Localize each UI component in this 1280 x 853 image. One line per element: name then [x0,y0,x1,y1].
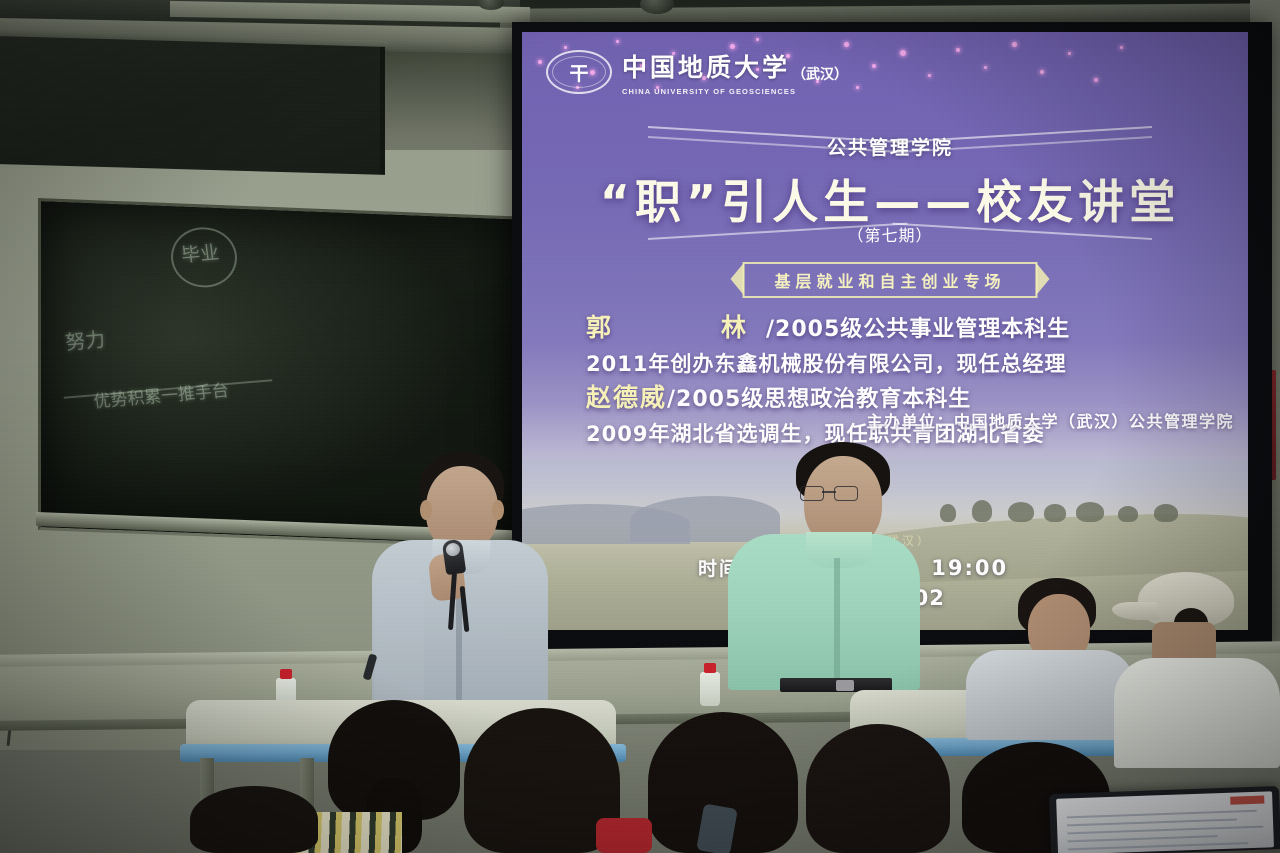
university-seal-icon: 干 [546,50,612,94]
slide-host-line: 主办单位：中国地质大学（武汉）公共管理学院 [866,408,1234,432]
speaker-1-credential: /2005级公共事业管理本科生 [766,317,1070,342]
speaker-1-name: 郭 林 [586,313,766,342]
college-name: 公共管理学院 [520,133,1260,160]
university-campus: （武汉） [792,64,848,84]
tree-6 [1118,506,1138,522]
standing-speaker-arm-right [374,580,424,704]
chalk-underline [64,379,273,399]
speaker-2-name: 赵德威 [586,383,667,412]
tree-1 [940,504,956,522]
tree-5 [1076,502,1104,522]
front-left-hair [190,786,318,853]
front-4-hair [806,724,950,853]
seal-char: 干 [569,59,588,86]
university-name-block: 中国地质大学 （武汉） CHINA UNIVERSITY OF GEOSCIEN… [622,48,848,96]
laptop-screen [1056,791,1274,853]
seated-speaker-glasses [800,486,858,500]
chalk-text-left: 努力 [63,323,106,355]
slide-issue: （第七期） [520,222,1260,246]
water-bottle-right[interactable] [700,672,720,706]
seated-speaker-buckle [836,680,854,691]
seated-speaker-placket [834,558,840,686]
screenshot-root: 毕业 努力 优势积累一推手台 [0,0,1280,853]
capped-student-torso [1114,658,1280,768]
tree-7 [1154,504,1178,522]
audience-back-right-torso [966,650,1134,740]
standing-speaker-ear-left [420,500,432,520]
tree-4 [1044,504,1066,522]
standing-speaker-ear-right [492,500,504,520]
classroom-scene: 毕业 努力 优势积累一推手台 [0,0,1280,853]
upper-blackboard [0,36,385,175]
tree-2 [972,500,992,522]
university-name-cn: 中国地质大学 [622,48,790,84]
speaker-1-description: 2011年创办东鑫机械股份有限公司，现任总经理 [586,348,1070,378]
speaker-entry-1: 郭 林/2005级公共事业管理本科生 2011年创办东鑫机械股份有限公司，现任总… [586,308,1070,378]
screen-bezel-right [1248,22,1272,654]
screen-bezel-top [512,22,1272,32]
tree-3 [1008,502,1034,522]
laptop-screen-red-banner [1230,796,1264,805]
hill-center [630,496,780,542]
front-3-red-item [596,818,652,853]
university-logo-row: 干 中国地质大学 （武汉） CHINA UNIVERSITY OF GEOSCI… [546,48,848,96]
university-name-en: CHINA UNIVERSITY OF GEOSCIENCES [622,87,848,96]
laptop[interactable] [1049,786,1280,853]
slide-ribbon-banner: 基层就业和自主创业专场 [742,262,1037,298]
chalk-circle [168,225,240,289]
